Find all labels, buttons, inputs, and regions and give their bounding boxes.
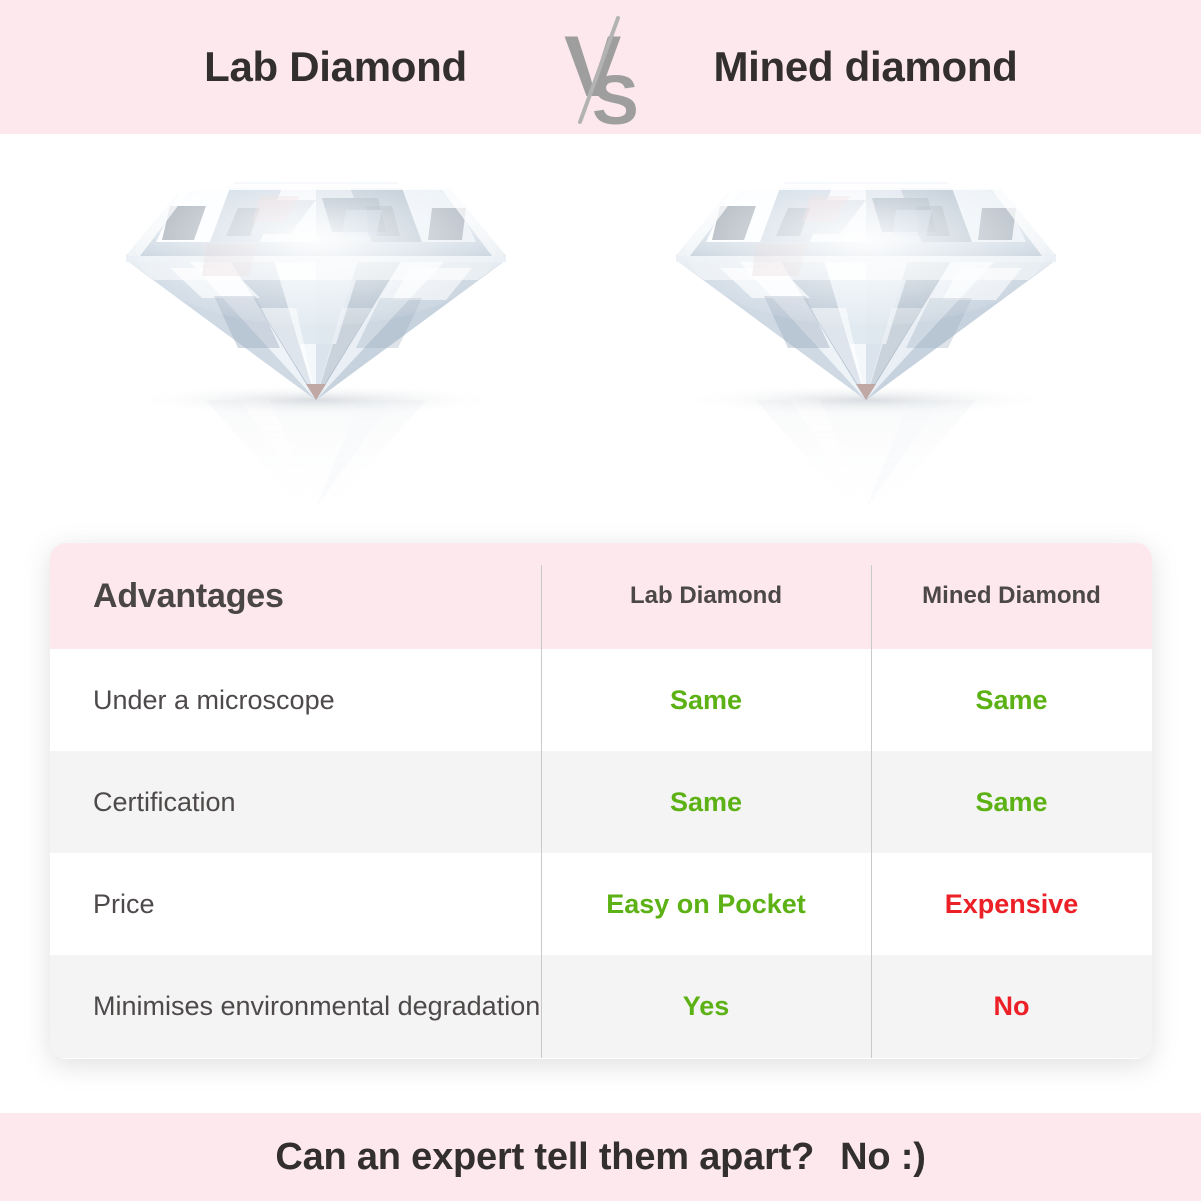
row-label: Minimises environmental degradation: [50, 988, 541, 1024]
column-header-advantages: Advantages: [50, 577, 541, 616]
footer-answer: No :): [840, 1136, 926, 1179]
column-divider-1: [541, 649, 542, 751]
column-header-mined-diamond: Mined Diamond: [871, 582, 1152, 610]
row-value-lab: Same: [541, 685, 871, 716]
row-value-lab: Easy on Pocket: [541, 889, 871, 920]
column-divider-2: [871, 853, 872, 955]
table-row: Under a microscope Same Same: [50, 649, 1152, 751]
row-value-mined: Expensive: [871, 889, 1152, 920]
column-divider-1: [541, 853, 542, 955]
right-title: Mined diamond: [656, 43, 1076, 91]
column-divider-1: [541, 955, 542, 1058]
mined-diamond-image: [660, 148, 1080, 528]
table-header-row: Advantages Lab Diamond Mined Diamond: [50, 543, 1152, 649]
row-label: Price: [50, 886, 541, 922]
column-divider-1: [541, 751, 542, 853]
row-value-lab: Same: [541, 787, 871, 818]
vs-badge: V S: [546, 0, 656, 134]
comparison-table: Advantages Lab Diamond Mined Diamond Und…: [50, 543, 1152, 1059]
column-divider-2: [871, 649, 872, 751]
table-row: Price Easy on Pocket Expensive: [50, 853, 1152, 955]
footer-question: Can an expert tell them apart?: [275, 1136, 814, 1179]
column-divider-2: [871, 565, 872, 649]
row-value-mined: Same: [871, 685, 1152, 716]
table-row: Certification Same Same: [50, 751, 1152, 853]
column-divider-2: [871, 955, 872, 1058]
diamond-stage: [0, 134, 1201, 534]
row-label: Under a microscope: [50, 682, 541, 718]
column-header-lab-diamond: Lab Diamond: [541, 582, 871, 610]
row-label: Certification: [50, 784, 541, 820]
column-divider-2: [871, 751, 872, 853]
column-divider-1: [541, 565, 542, 649]
bottom-banner: Can an expert tell them apart? No :): [0, 1113, 1201, 1201]
row-value-lab: Yes: [541, 991, 871, 1022]
row-value-mined: No: [871, 991, 1152, 1022]
lab-diamond-image: [110, 148, 530, 528]
top-banner: Lab Diamond V S Mined diamond: [0, 0, 1201, 134]
row-value-mined: Same: [871, 787, 1152, 818]
table-row: Minimises environmental degradation Yes …: [50, 955, 1152, 1058]
left-title: Lab Diamond: [126, 43, 546, 91]
vs-icon: V S: [546, 0, 656, 134]
